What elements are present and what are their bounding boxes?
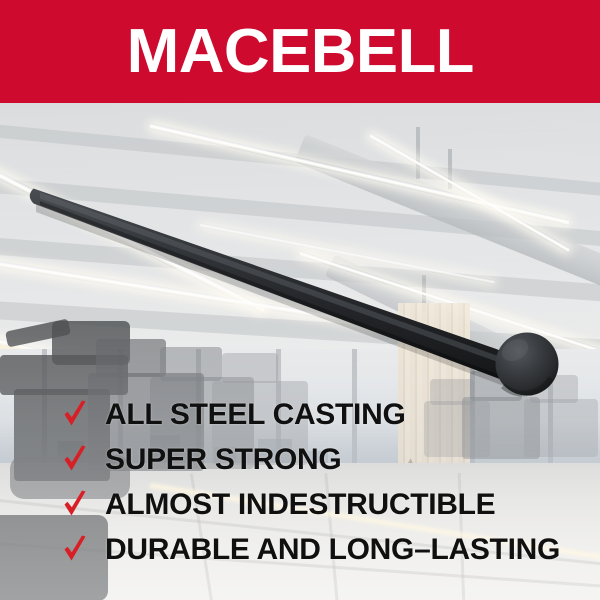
ceiling-led-strip (0, 157, 266, 313)
page-title: MACEBELL (126, 21, 473, 83)
cardio-machine-console (160, 347, 222, 381)
feature-item: ALMOST INDESTRUCTIBLE (62, 482, 582, 527)
feature-label: ALMOST INDESTRUCTIBLE (105, 490, 495, 520)
feature-label: DURABLE AND LONG–LASTING (105, 535, 560, 565)
feature-item: DURABLE AND LONG–LASTING (62, 527, 582, 572)
check-icon (62, 400, 88, 430)
feature-item: ALL STEEL CASTING (62, 392, 582, 437)
cardio-machine-console (222, 353, 278, 383)
check-icon (62, 445, 88, 475)
header-banner: MACEBELL (0, 0, 600, 103)
feature-list: ALL STEEL CASTING SUPER STRONG ALMOST IN… (62, 392, 582, 572)
duct-hanger (416, 127, 420, 179)
ad-canvas: ▲ (0, 0, 600, 600)
check-icon (62, 490, 88, 520)
cardio-machine-console (96, 339, 166, 377)
check-icon (62, 535, 88, 565)
feature-item: SUPER STRONG (62, 437, 582, 482)
feature-label: ALL STEEL CASTING (105, 400, 405, 430)
feature-label: SUPER STRONG (105, 445, 341, 475)
